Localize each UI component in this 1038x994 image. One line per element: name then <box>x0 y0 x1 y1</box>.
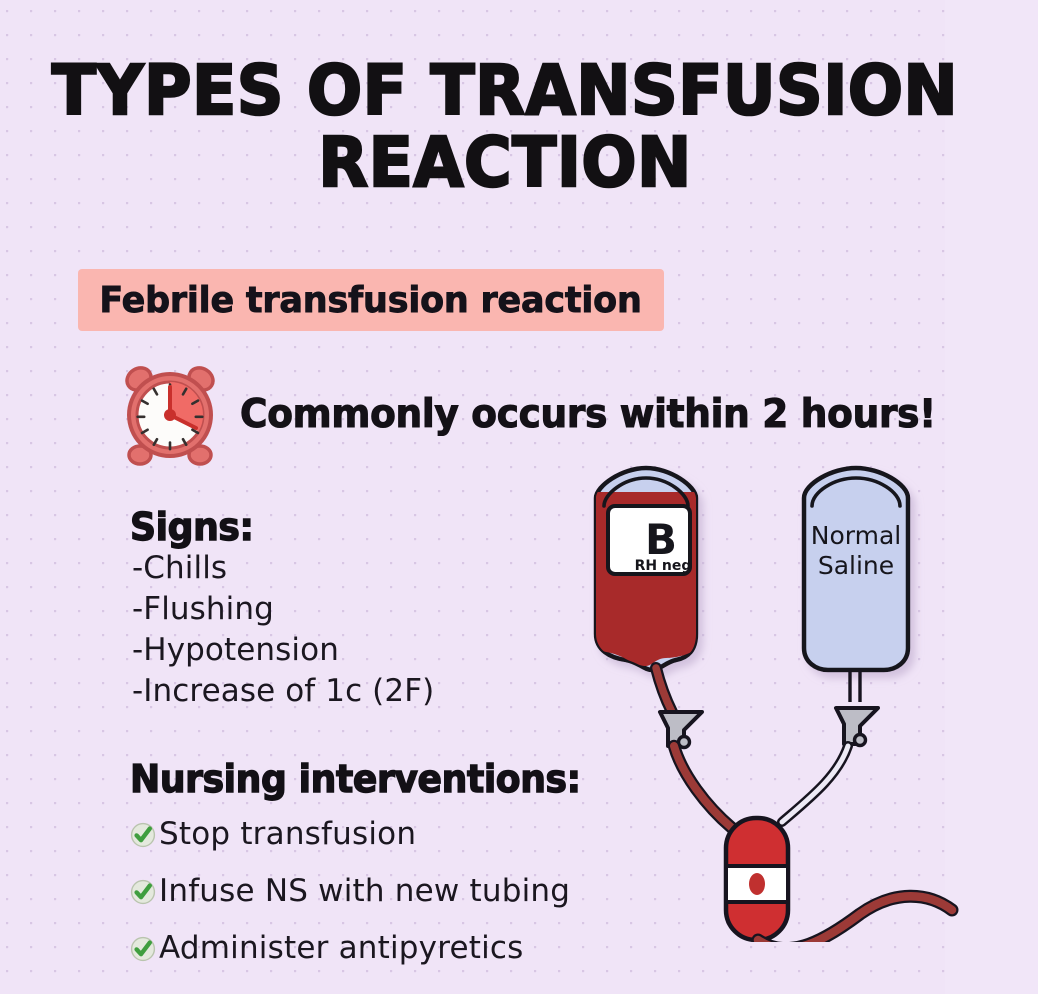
saline-label-line-1: Normal <box>811 521 901 550</box>
intervention-label: Infuse NS with new tubing <box>159 873 570 909</box>
subtitle-banner: Febrile transfusion reaction <box>78 269 664 331</box>
title-line-2: REACTION <box>30 130 979 196</box>
green-check-circle-icon <box>130 879 156 905</box>
saline-bag: Normal Saline <box>804 468 908 670</box>
timing-text: Commonly occurs within 2 hours! <box>240 392 936 437</box>
alarm-clock-icon <box>118 362 222 466</box>
green-check-circle-icon <box>130 822 156 848</box>
blood-droplet-icon <box>749 873 765 895</box>
title-line-1: TYPES OF TRANSFUSION <box>30 58 979 124</box>
sign-item: -Chills <box>132 548 560 589</box>
blood-transfusion-setup-illustration: B RH neg Normal Saline <box>560 462 980 942</box>
interventions-heading: Nursing interventions: <box>130 760 624 800</box>
rh-factor-label: RH neg <box>635 558 692 574</box>
timing-callout: Commonly occurs within 2 hours! <box>118 362 965 466</box>
blood-tubing-lower <box>674 746 732 828</box>
green-check-circle-icon <box>130 936 156 962</box>
saline-label-line-2: Saline <box>818 551 894 580</box>
signs-heading: Signs: <box>130 508 539 548</box>
infographic-poster: TYPES OF TRANSFUSION REACTION Febrile tr… <box>0 0 1038 994</box>
intervention-label: Administer antipyretics <box>159 930 524 966</box>
intervention-label: Stop transfusion <box>159 816 416 852</box>
saline-roller-clamp <box>836 708 878 746</box>
blood-bag: B RH neg <box>590 468 702 670</box>
saline-tube-neck <box>850 670 860 702</box>
sign-item: -Increase of 1c (2F) <box>132 671 560 712</box>
subtitle-text: Febrile transfusion reaction <box>78 280 642 321</box>
blood-type-label: B <box>645 515 677 564</box>
sign-item: -Hypotension <box>132 630 560 671</box>
page-title: TYPES OF TRANSFUSION REACTION <box>0 58 1010 196</box>
blood-roller-clamp <box>660 712 702 748</box>
sign-item: -Flushing <box>132 589 560 630</box>
drip-chamber <box>726 818 788 940</box>
signs-section: Signs: -Chills -Flushing -Hypotension -I… <box>130 508 560 712</box>
